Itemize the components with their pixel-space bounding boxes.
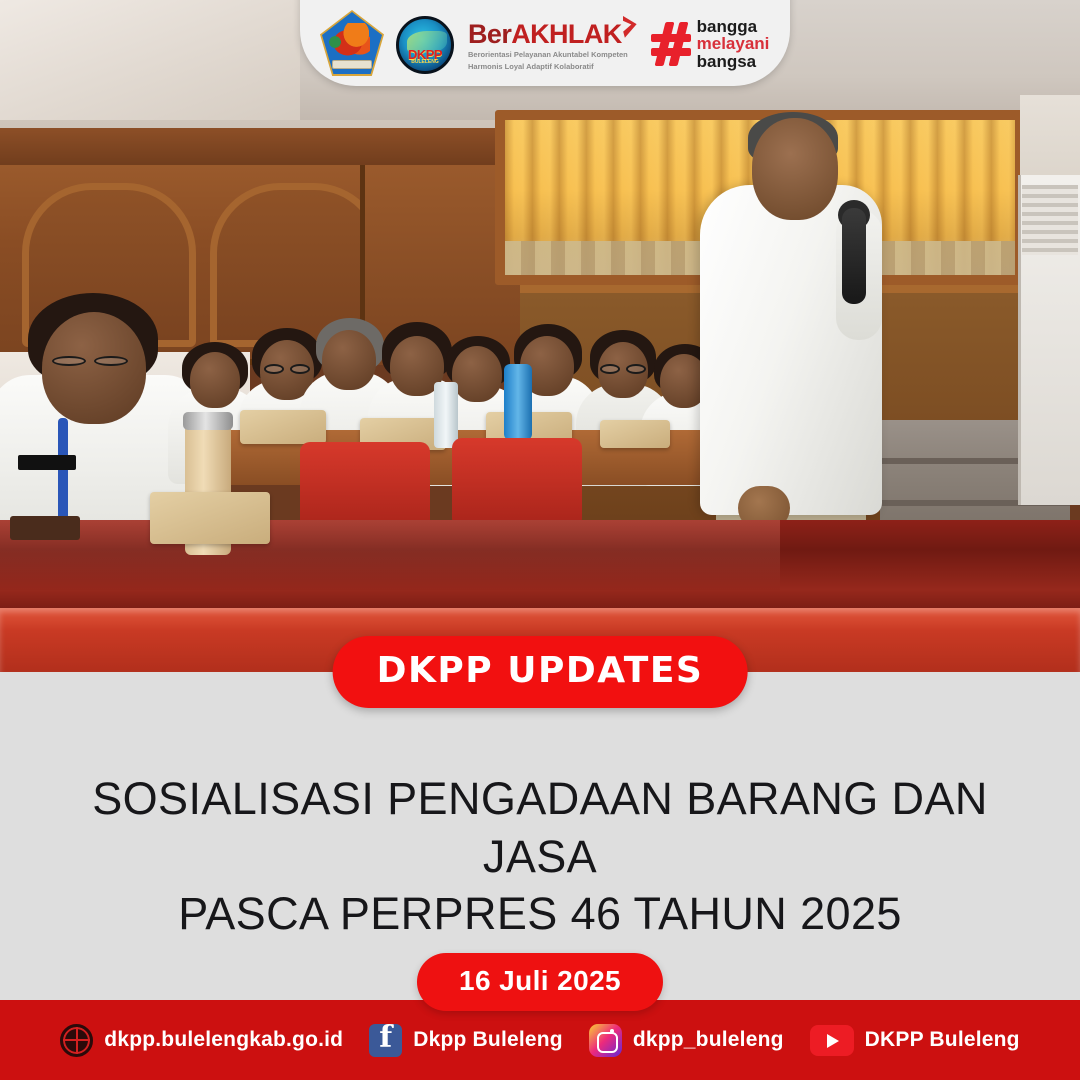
title-line-2: PASCA PERPRES 46 TAHUN 2025 <box>50 885 1030 943</box>
dkpp-logo-icon: DKPP BULELENG <box>396 16 454 74</box>
facebook-icon <box>369 1024 402 1057</box>
participant-lanyard <box>58 418 68 528</box>
bangga-line-1: bangga <box>697 18 770 35</box>
buleleng-regency-crest-icon <box>322 12 382 74</box>
dkpp-logo-subtext: BULELENG <box>399 59 451 65</box>
participant-head <box>42 312 146 424</box>
lion-tail-icon <box>328 34 342 50</box>
logo-header-bar: DKPP BULELENG BerAKHLAK Berorientasi Pel… <box>300 0 790 86</box>
microphone <box>842 208 866 304</box>
facebook-label: Dkpp Buleleng <box>413 1028 563 1052</box>
berakhlak-subtitle-line1: Berorientasi Pelayanan Akuntabel Kompete… <box>468 50 637 60</box>
participant-head <box>322 330 376 390</box>
footer-item-youtube[interactable]: DKPP Buleleng <box>810 1025 1020 1056</box>
instagram-icon <box>589 1024 622 1057</box>
participant-head <box>190 352 240 408</box>
thermos-cap <box>183 412 233 430</box>
social-footer-bar: dkpp.bulelengkab.go.id Dkpp Buleleng dkp… <box>0 1000 1080 1080</box>
wooden-souvenir-box <box>240 410 326 444</box>
wooden-souvenir-box <box>150 492 270 544</box>
website-label: dkpp.bulelengkab.go.id <box>104 1028 343 1052</box>
bangga-line-2: melayani <box>697 35 770 52</box>
bangga-melayani-bangsa-logo: bangga melayani bangsa <box>651 18 770 74</box>
hashtag-icon <box>651 22 691 66</box>
berakhlak-prefix: Ber <box>468 19 511 49</box>
participant-glasses <box>52 356 86 366</box>
water-glass <box>434 382 458 448</box>
wooden-souvenir-box <box>600 420 670 448</box>
footer-item-website[interactable]: dkpp.bulelengkab.go.id <box>60 1024 343 1057</box>
participant-head <box>452 346 502 402</box>
bangga-wordmark: bangga melayani bangsa <box>697 18 770 70</box>
youtube-icon <box>810 1025 854 1056</box>
water-bottle <box>504 364 532 440</box>
swoosh-icon <box>623 16 637 38</box>
participant-glasses <box>626 364 646 374</box>
berakhlak-wordmark: BerAKHLAK <box>468 21 622 48</box>
title-line-1: SOSIALISASI PENGADAAN BARANG DAN JASA <box>50 770 1030 885</box>
berakhlak-main: AKHLAK <box>511 19 621 49</box>
footer-item-facebook[interactable]: Dkpp Buleleng <box>369 1024 563 1057</box>
smartphone <box>10 516 80 540</box>
event-photo <box>0 0 1080 672</box>
footer-item-instagram[interactable]: dkpp_buleleng <box>589 1024 784 1057</box>
bangga-line-3: bangsa <box>697 53 770 70</box>
page-title: SOSIALISASI PENGADAAN BARANG DAN JASA PA… <box>0 770 1080 943</box>
red-chair <box>452 438 582 528</box>
berakhlak-logo: BerAKHLAK Berorientasi Pelayanan Akuntab… <box>468 21 637 74</box>
participant-glasses <box>600 364 620 374</box>
table-reflection <box>0 520 780 590</box>
globe-icon <box>60 1024 93 1057</box>
berakhlak-subtitle-line2: Harmonis Loyal Adaptif Kolaboratif <box>468 62 637 72</box>
youtube-label: DKPP Buleleng <box>865 1028 1020 1052</box>
participant-glasses <box>264 364 284 374</box>
crest-ribbon <box>332 60 372 69</box>
air-conditioner-grill <box>1022 185 1078 255</box>
red-chair <box>300 442 430 532</box>
participant-nametag <box>18 455 76 470</box>
participant-glasses <box>290 364 310 374</box>
dkpp-updates-badge: DKPP UPDATES <box>333 636 748 708</box>
wood-trim-band <box>0 128 560 168</box>
participant-glasses <box>94 356 128 366</box>
event-date-badge: 16 Juli 2025 <box>417 953 663 1011</box>
speaker-head <box>752 118 838 220</box>
instagram-label: dkpp_buleleng <box>633 1028 784 1052</box>
